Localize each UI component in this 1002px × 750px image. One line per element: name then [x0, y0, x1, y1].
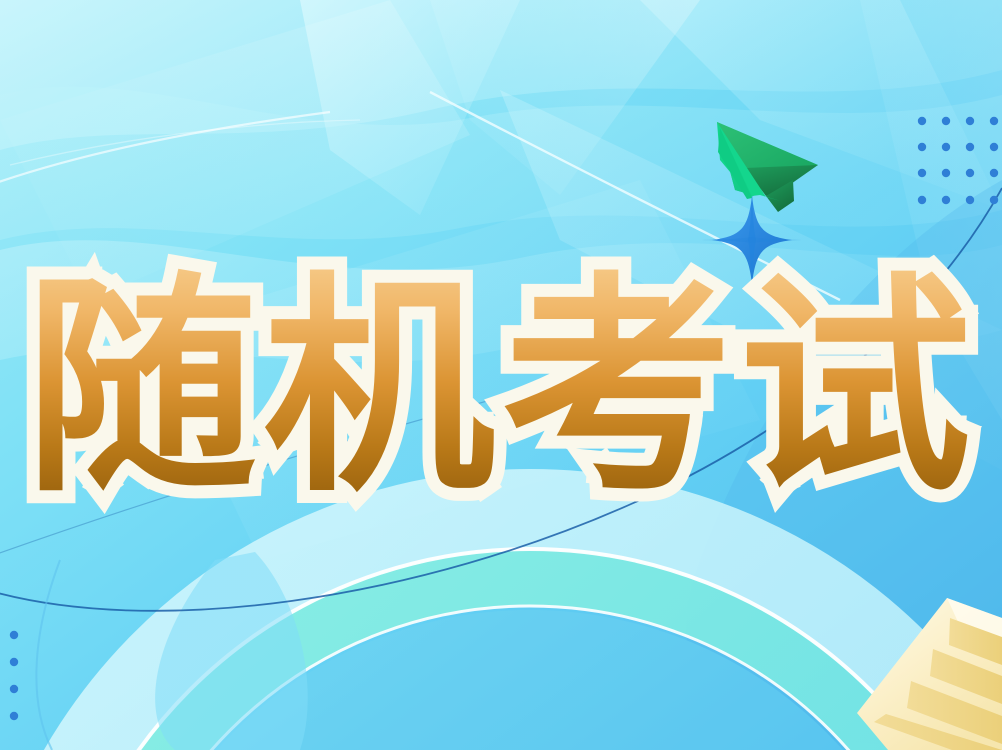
exam-banner: 随机考试 随机考试 [0, 0, 1002, 750]
document-page-icon [0, 0, 1002, 750]
